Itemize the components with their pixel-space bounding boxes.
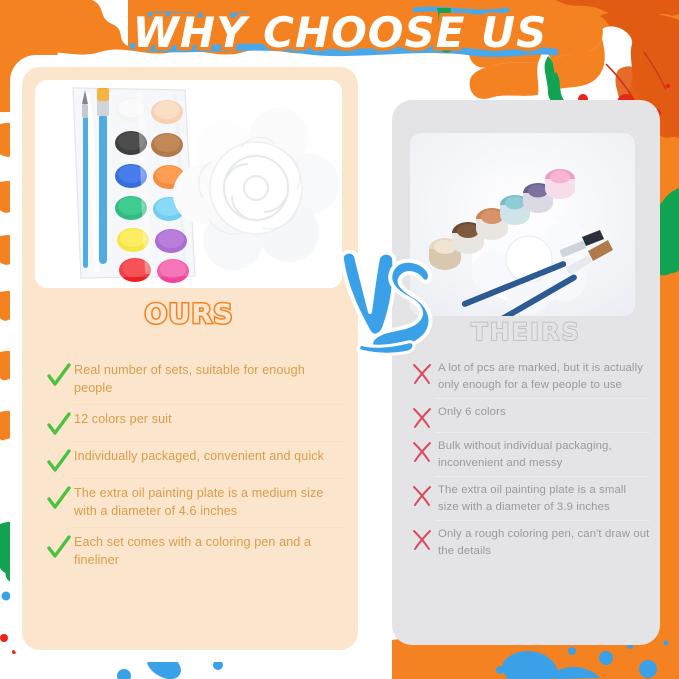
list-item-label: Individually packaged, convenient and qu… (74, 448, 324, 466)
list-item: 12 colors per suit (46, 411, 346, 442)
cross-icon (410, 439, 438, 461)
page-title-svg: WHY CHOOSE US (115, 2, 565, 64)
check-icon (46, 363, 74, 385)
list-item: Only 6 colors (410, 404, 650, 433)
theirs-heading-text: THEIRS (471, 318, 581, 346)
theirs-feature-list: A lot of pcs are marked, but it is actua… (410, 360, 650, 570)
check-icon (46, 449, 74, 471)
ours-heading-text: OURS (144, 299, 233, 330)
theirs-product-photo (410, 133, 635, 316)
list-item: The extra oil painting plate is a small … (410, 482, 650, 521)
theirs-heading-svg: THEIRS (446, 314, 606, 348)
ours-heading: OURS (22, 293, 356, 338)
list-item-label: Real number of sets, suitable for enough… (74, 362, 346, 397)
cross-icon (410, 483, 438, 505)
cross-icon (410, 361, 438, 383)
infographic-canvas: WHY CHOOSE US (0, 0, 679, 679)
check-icon (46, 486, 74, 508)
cross-icon (410, 527, 438, 549)
ours-product-photo (35, 80, 342, 288)
list-item-label: Bulk without individual packaging, incon… (438, 438, 650, 471)
list-item: The extra oil painting plate is a medium… (46, 485, 346, 528)
list-item-label: Each set comes with a coloring pen and a… (74, 534, 346, 569)
vs-badge: VS (330, 248, 440, 360)
ours-card: OURS Real number of sets, suitable for e… (10, 55, 370, 662)
cross-icon (410, 405, 438, 427)
list-item-label: 12 colors per suit (74, 411, 172, 429)
list-item: Each set comes with a coloring pen and a… (46, 534, 346, 577)
list-item: Real number of sets, suitable for enough… (46, 362, 346, 405)
check-icon (46, 535, 74, 557)
ours-photo-svg (35, 80, 342, 288)
list-item: Only a rough coloring pen, can't draw ou… (410, 526, 650, 565)
page-title: WHY CHOOSE US (0, 2, 679, 68)
list-item-label: The extra oil painting plate is a small … (438, 482, 650, 515)
list-item: A lot of pcs are marked, but it is actua… (410, 360, 650, 399)
theirs-photo-svg (410, 133, 635, 316)
list-item: Bulk without individual packaging, incon… (410, 438, 650, 477)
list-item-label: Only a rough coloring pen, can't draw ou… (438, 526, 650, 559)
check-icon (46, 412, 74, 434)
page-title-text: WHY CHOOSE US (132, 8, 547, 57)
vs-badge-svg: VS (330, 248, 440, 360)
ours-heading-svg: OURS (99, 293, 279, 333)
list-item: Individually packaged, convenient and qu… (46, 448, 346, 479)
list-item-label: A lot of pcs are marked, but it is actua… (438, 360, 650, 393)
list-item-label: Only 6 colors (438, 404, 506, 421)
ours-feature-list: Real number of sets, suitable for enough… (46, 362, 346, 583)
list-item-label: The extra oil painting plate is a medium… (74, 485, 346, 520)
theirs-card: THEIRS A lot of pcs are marked, but it i… (392, 100, 660, 645)
ours-card-inner: OURS Real number of sets, suitable for e… (22, 67, 358, 650)
